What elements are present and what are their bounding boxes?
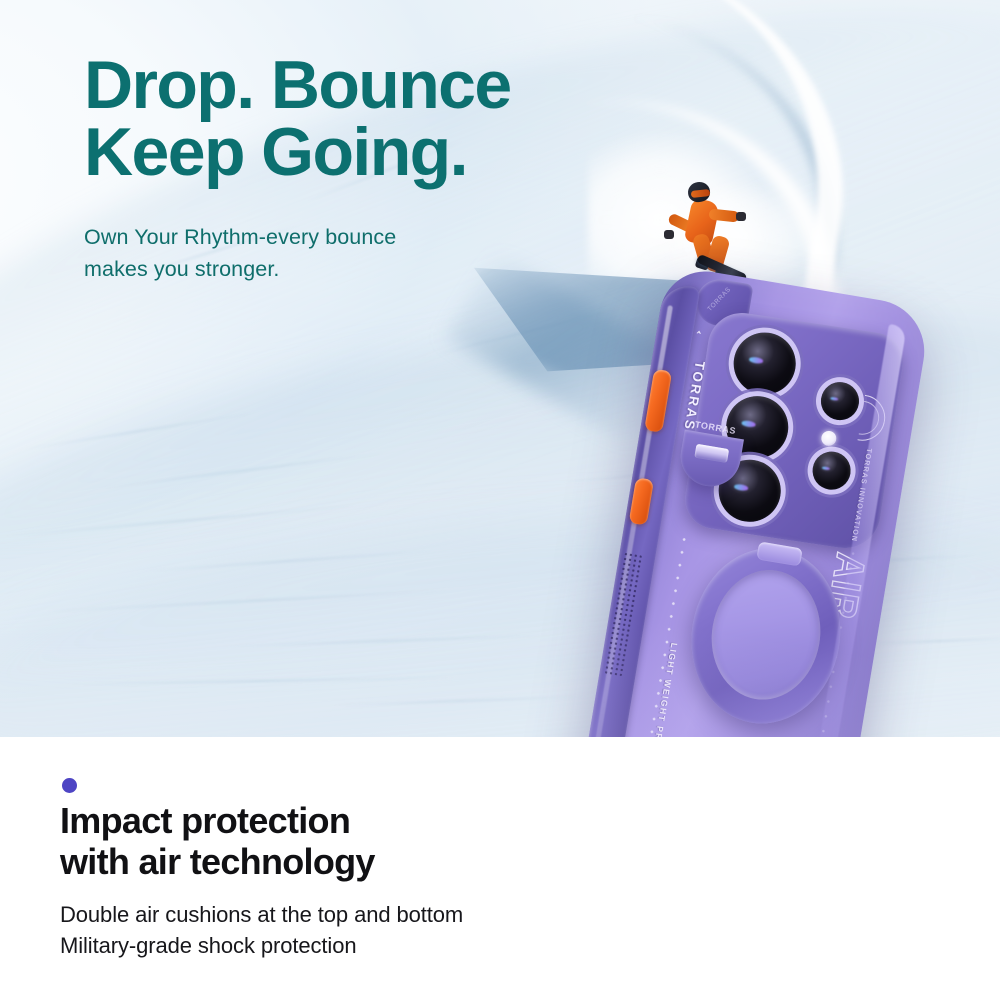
rider-glove-right — [736, 212, 746, 221]
feature-bullet-dot — [62, 778, 77, 793]
lens-glint — [822, 466, 831, 471]
feature-body: Double air cushions at the top and botto… — [60, 899, 700, 961]
camera-lens-small-lower — [810, 449, 853, 492]
feature-title: Impact protection with air technology — [60, 800, 700, 882]
hero-headline: Drop. Bounce Keep Going. — [84, 52, 604, 187]
lens-glint — [749, 356, 763, 364]
torras-tick-icon: ‸ — [697, 322, 710, 335]
camera-lens-small-upper — [818, 380, 861, 423]
hero-copy-block: Drop. Bounce Keep Going. Own Your Rhythm… — [84, 52, 604, 286]
camera-lens-main — [729, 328, 799, 398]
lens-glint — [741, 420, 755, 428]
rider-glove-left — [664, 230, 674, 239]
feature-copy-block: Impact protection with air technology Do… — [60, 800, 700, 962]
lens-glint — [830, 397, 839, 402]
marketing-banner: Drop. Bounce Keep Going. Own Your Rhythm… — [0, 0, 1000, 1000]
kickstand-slot — [694, 444, 729, 463]
camera-flash-icon — [820, 430, 837, 447]
hero-subcopy: Own Your Rhythm-every bounce makes you s… — [84, 221, 604, 286]
lens-glint — [734, 483, 748, 491]
